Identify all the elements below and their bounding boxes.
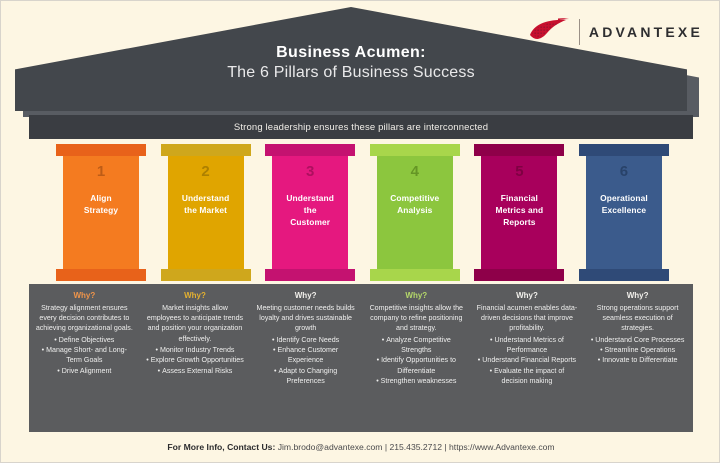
pillar-cap	[265, 144, 355, 156]
detail-column-2: Why? Market insights allow employees to …	[140, 284, 251, 432]
pillar-base	[56, 269, 146, 281]
pillar-label: Operational Excellence	[597, 193, 651, 217]
list-item: Identify Core Needs	[255, 335, 356, 345]
pillar-label-line: the	[286, 205, 334, 217]
detail-bullets: Analyze Competitive Strengths Identify O…	[366, 335, 467, 387]
detail-bullets: Understand Core Processes Streamline Ope…	[587, 335, 688, 366]
pillars-row: 1 Align Strategy 2 Understand the Market	[56, 144, 669, 281]
detail-text: Competitive insights allow the company t…	[366, 303, 467, 334]
list-item: Assess External Risks	[145, 366, 246, 376]
detail-column-1: Why? Strategy alignment ensures every de…	[29, 284, 140, 432]
pillar-number: 1	[97, 164, 105, 179]
pillar-label-line: the Market	[182, 205, 230, 217]
pillar-shaft: 1 Align Strategy	[63, 156, 139, 269]
pillar-cap	[56, 144, 146, 156]
pillar-label-line: Metrics and	[496, 205, 544, 217]
pillar-base	[579, 269, 669, 281]
pillar-1-align-strategy[interactable]: 1 Align Strategy	[56, 144, 146, 281]
pillar-number: 3	[306, 164, 314, 179]
detail-column-4: Why? Competitive insights allow the comp…	[361, 284, 472, 432]
pillar-label-line: Competitive	[390, 193, 439, 205]
list-item: Drive Alignment	[34, 366, 135, 376]
pillar-3-understand-the-customer[interactable]: 3 Understand the Customer	[265, 144, 355, 281]
list-item: Understand Metrics of Performance	[477, 335, 578, 356]
brand-logo: ADVANTEXE	[528, 17, 703, 47]
why-heading: Why?	[145, 291, 246, 301]
pillar-label-line: Reports	[496, 217, 544, 229]
detail-text: Strong operations support seamless execu…	[587, 303, 688, 334]
banner-text: Strong leadership ensures these pillars …	[234, 122, 488, 133]
why-heading: Why?	[477, 291, 578, 301]
pillar-base	[370, 269, 460, 281]
pillar-label: Align Strategy	[81, 193, 121, 217]
pillar-2-understand-the-market[interactable]: 2 Understand the Market	[161, 144, 251, 281]
pillar-shaft: 6 Operational Excellence	[586, 156, 662, 269]
detail-column-6: Why? Strong operations support seamless …	[582, 284, 693, 432]
pillar-label: Understand the Market	[179, 193, 233, 217]
pillar-shaft: 4 Competitive Analysis	[377, 156, 453, 269]
pillar-shaft: 3 Understand the Customer	[272, 156, 348, 269]
list-item: Monitor Industry Trends	[145, 345, 246, 355]
pillar-label: Competitive Analysis	[387, 193, 442, 217]
detail-bullets: Identify Core Needs Enhance Customer Exp…	[255, 335, 356, 387]
list-item: Enhance Customer Experience	[255, 345, 356, 366]
footer-contact-details[interactable]: Jim.brodo@advantexe.com | 215.435.2712 |…	[278, 442, 555, 452]
logo-divider	[579, 19, 580, 45]
advantexe-swoosh-icon	[528, 17, 570, 47]
detail-bullets: Understand Metrics of Performance Unders…	[477, 335, 578, 387]
pillar-shaft: 5 Financial Metrics and Reports	[481, 156, 557, 269]
list-item: Manage Short- and Long-Term Goals	[34, 345, 135, 366]
pillar-base	[474, 269, 564, 281]
pillar-label-line: Align	[84, 193, 118, 205]
details-panel: Why? Strategy alignment ensures every de…	[29, 284, 693, 432]
pillar-label-line: Excellence	[600, 205, 648, 217]
pillar-label: Financial Metrics and Reports	[493, 193, 547, 229]
pillar-shaft: 2 Understand the Market	[168, 156, 244, 269]
list-item: Understand Core Processes	[587, 335, 688, 345]
detail-text: Financial acumen enables data-driven dec…	[477, 303, 578, 334]
list-item: Define Objectives	[34, 335, 135, 345]
pillar-base	[265, 269, 355, 281]
detail-column-3: Why? Meeting customer needs builds loyal…	[250, 284, 361, 432]
list-item: Innovate to Differentiate	[587, 355, 688, 365]
pillar-label: Understand the Customer	[283, 193, 337, 229]
why-heading: Why?	[34, 291, 135, 301]
leadership-banner: Strong leadership ensures these pillars …	[29, 115, 693, 139]
pillar-cap	[579, 144, 669, 156]
infographic-canvas: Business Acumen: The 6 Pillars of Busine…	[0, 0, 720, 463]
pillar-number: 4	[411, 164, 419, 179]
footer-contact-bar: For More Info, Contact Us: Jim.brodo@adv…	[1, 442, 720, 452]
detail-bullets: Monitor Industry Trends Explore Growth O…	[145, 345, 246, 376]
pillar-label-line: Understand	[286, 193, 334, 205]
pillar-label-line: Understand	[182, 193, 230, 205]
why-heading: Why?	[255, 291, 356, 301]
pillar-4-competitive-analysis[interactable]: 4 Competitive Analysis	[370, 144, 460, 281]
list-item: Adapt to Changing Preferences	[255, 366, 356, 387]
detail-text: Strategy alignment ensures every decisio…	[34, 303, 135, 334]
pillar-label-line: Strategy	[84, 205, 118, 217]
pillar-number: 5	[515, 164, 523, 179]
list-item: Analyze Competitive Strengths	[366, 335, 467, 356]
logo-wordmark: ADVANTEXE	[589, 24, 703, 40]
why-heading: Why?	[587, 291, 688, 301]
detail-bullets: Define Objectives Manage Short- and Long…	[34, 335, 135, 376]
list-item: Streamline Operations	[587, 345, 688, 355]
pillar-label-line: Analysis	[390, 205, 439, 217]
pillar-number: 2	[201, 164, 209, 179]
why-heading: Why?	[366, 291, 467, 301]
pillar-label-line: Operational	[600, 193, 648, 205]
pillar-label-line: Financial	[496, 193, 544, 205]
list-item: Explore Growth Opportunities	[145, 355, 246, 365]
footer-label: For More Info, Contact Us:	[167, 442, 275, 452]
list-item: Strengthen weaknesses	[366, 376, 467, 386]
pillar-cap	[474, 144, 564, 156]
detail-text: Meeting customer needs builds loyalty an…	[255, 303, 356, 334]
pillar-base	[161, 269, 251, 281]
detail-column-5: Why? Financial acumen enables data-drive…	[472, 284, 583, 432]
list-item: Identify Opportunities to Differentiate	[366, 355, 467, 376]
detail-text: Market insights allow employees to antic…	[145, 303, 246, 344]
pillar-number: 6	[620, 164, 628, 179]
pillar-5-financial-metrics-and-reports[interactable]: 5 Financial Metrics and Reports	[474, 144, 564, 281]
pillar-label-line: Customer	[286, 217, 334, 229]
pillar-cap	[161, 144, 251, 156]
pillar-cap	[370, 144, 460, 156]
list-item: Understand Financial Reports	[477, 355, 578, 365]
list-item: Evaluate the impact of decision making	[477, 366, 578, 387]
pillar-6-operational-excellence[interactable]: 6 Operational Excellence	[579, 144, 669, 281]
